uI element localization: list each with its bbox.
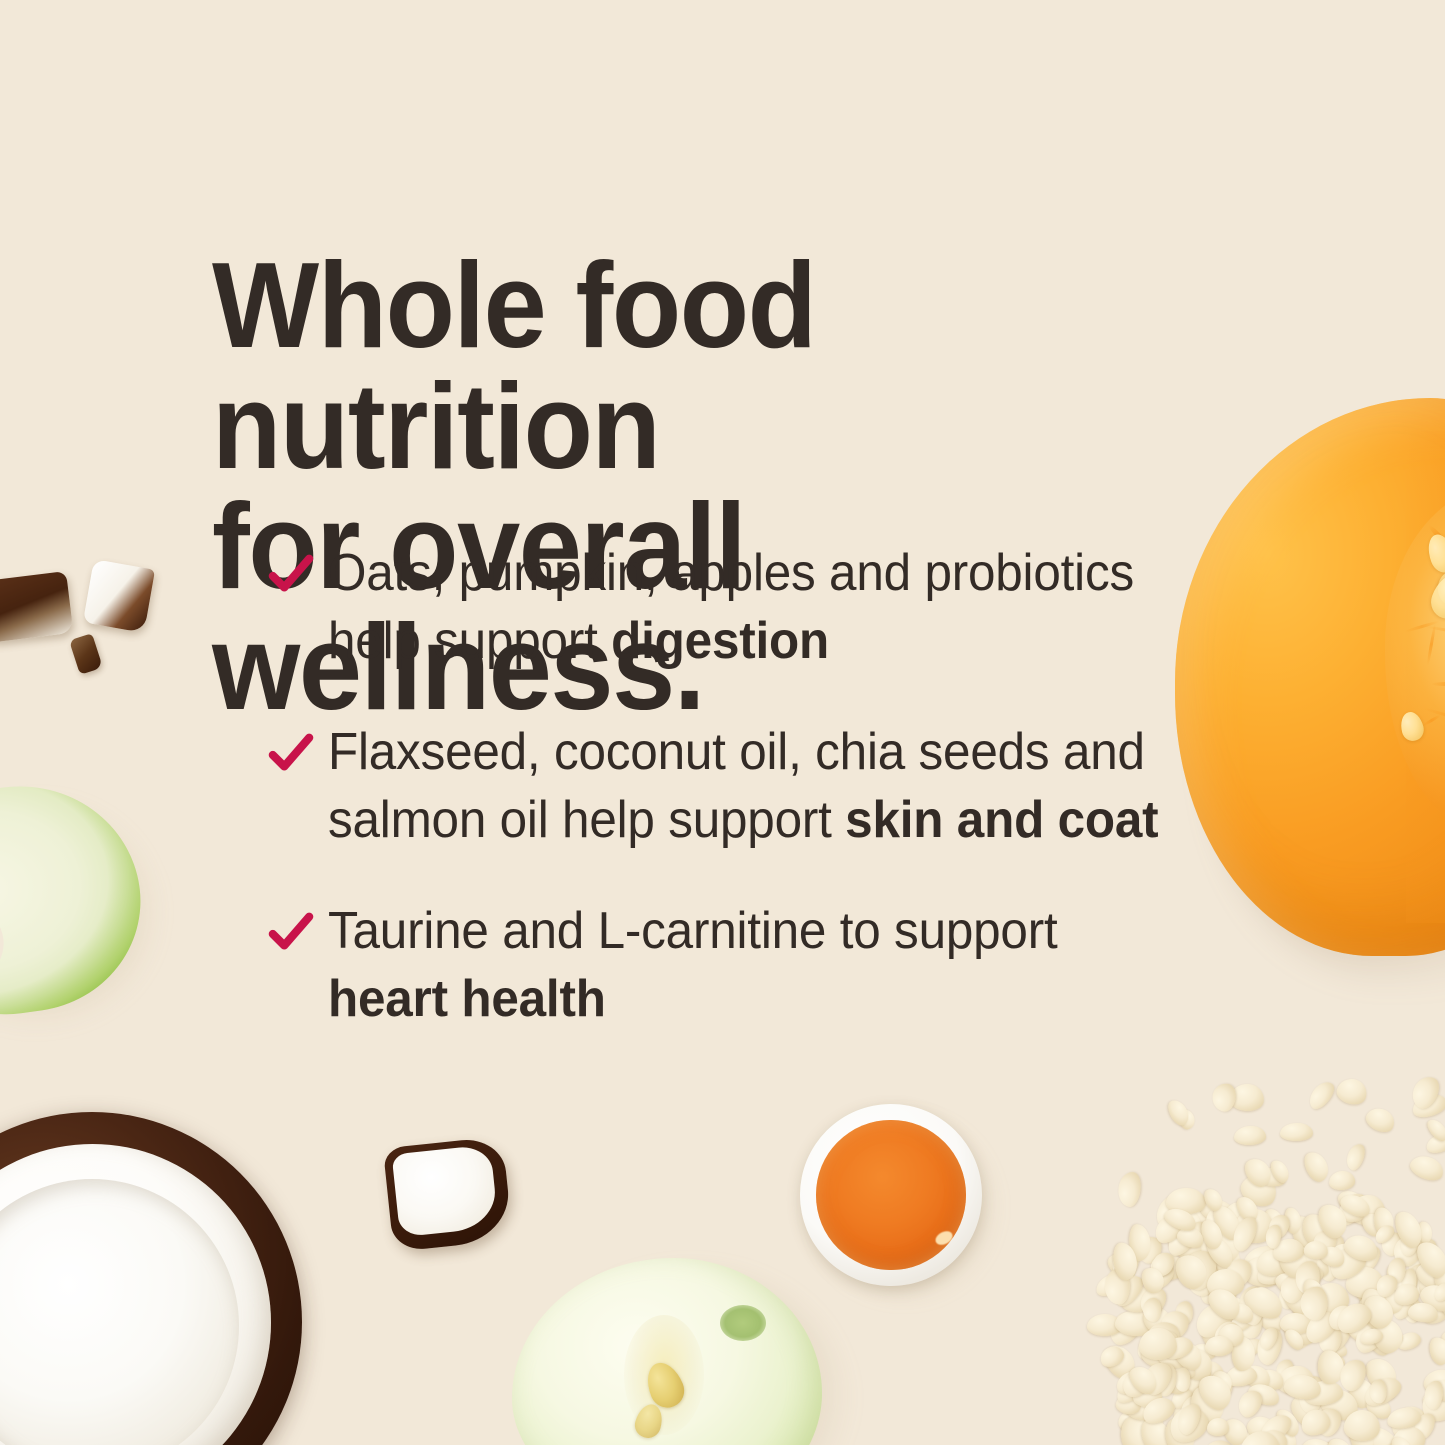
check-icon — [268, 731, 314, 777]
benefit-text: Taurine and L-carnitine to support heart… — [328, 898, 1174, 1033]
benefit-keyword: heart health — [328, 970, 606, 1028]
benefit-item: Flaxseed, coconut oil, chia seeds and sa… — [268, 719, 1218, 854]
benefits-list: Oats, pumpkin, apples and probiotics hel… — [268, 540, 1218, 1034]
benefit-item: Oats, pumpkin, apples and probiotics hel… — [268, 540, 1218, 675]
check-icon — [268, 552, 314, 598]
benefit-text: Flaxseed, coconut oil, chia seeds and sa… — [328, 719, 1174, 854]
product-benefits-poster: Whole food nutrition for overall wellnes… — [0, 0, 1445, 1445]
benefit-text: Oats, pumpkin, apples and probiotics hel… — [328, 540, 1174, 675]
poster-content: Whole food nutrition for overall wellnes… — [0, 0, 1445, 1445]
benefit-keyword: digestion — [611, 612, 829, 670]
benefit-keyword: skin and coat — [845, 791, 1158, 849]
benefit-item: Taurine and L-carnitine to support heart… — [268, 898, 1218, 1033]
check-icon — [268, 910, 314, 956]
